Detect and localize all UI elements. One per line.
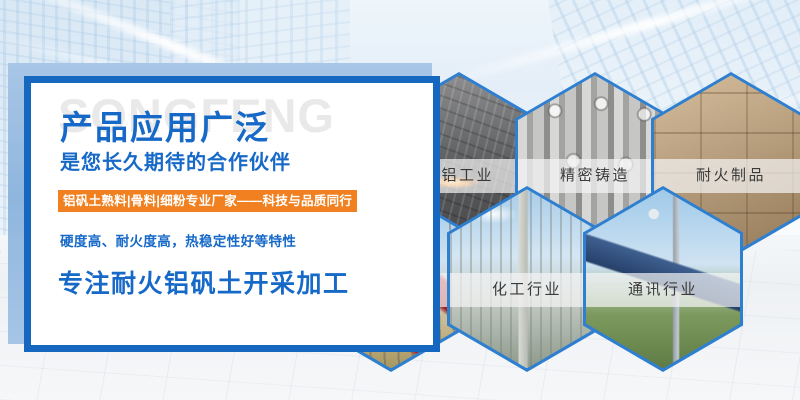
page-title: 产品应用广泛 — [60, 101, 270, 149]
hex-label: 精密铸造 — [518, 159, 672, 193]
hex-label: 化工行业 — [450, 273, 604, 307]
focus-tagline: 专注耐火铝矾土开采加工 — [58, 264, 350, 300]
feature-line: 硬度高、耐火度高，热稳定性好等特性 — [60, 230, 296, 250]
ribbon-tagline: 铝矾土熟料|骨料|细粉专业厂家——科技与品质同行 — [58, 190, 357, 212]
page-subtitle: 是您长久期待的合作伙伴 — [60, 146, 291, 175]
hex-label: 耐火制品 — [654, 159, 800, 193]
banner-stage: 炼铝工业 精密铸造 耐火制品 石油行业 化工行业 — [0, 0, 800, 400]
hex-label: 通讯行业 — [586, 273, 740, 307]
